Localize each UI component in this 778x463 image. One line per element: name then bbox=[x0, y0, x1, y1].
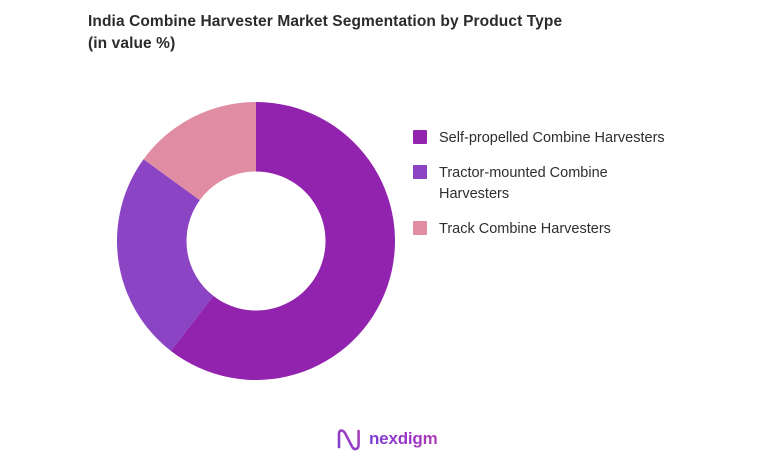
legend-item-track[interactable]: Track Combine Harvesters bbox=[413, 219, 713, 240]
legend-swatch-icon bbox=[413, 221, 427, 235]
legend-item-self-propelled[interactable]: Self-propelled Combine Harvesters bbox=[413, 128, 713, 149]
donut-slices bbox=[117, 102, 395, 380]
brand-logo: nexdigm bbox=[336, 426, 438, 452]
legend-item-tractor-mounted[interactable]: Tractor-mounted Combine Harvesters bbox=[413, 163, 713, 205]
chart-legend: Self-propelled Combine Harvesters Tracto… bbox=[413, 128, 713, 254]
donut-chart bbox=[117, 102, 395, 380]
title-line-2: (in value %) bbox=[88, 33, 718, 55]
legend-item-label: Track Combine Harvesters bbox=[439, 219, 611, 240]
chart-page: India Combine Harvester Market Segmentat… bbox=[0, 0, 778, 463]
legend-item-label: Tractor-mounted Combine Harvesters bbox=[439, 163, 671, 205]
legend-swatch-icon bbox=[413, 165, 427, 179]
legend-item-label: Self-propelled Combine Harvesters bbox=[439, 128, 665, 149]
page-title: India Combine Harvester Market Segmentat… bbox=[88, 11, 718, 55]
donut-chart-svg bbox=[117, 102, 395, 380]
title-line-1: India Combine Harvester Market Segmentat… bbox=[88, 11, 718, 33]
brand-wordmark: nexdigm bbox=[369, 429, 438, 449]
legend-swatch-icon bbox=[413, 130, 427, 144]
nexdigm-n-icon bbox=[336, 427, 362, 451]
